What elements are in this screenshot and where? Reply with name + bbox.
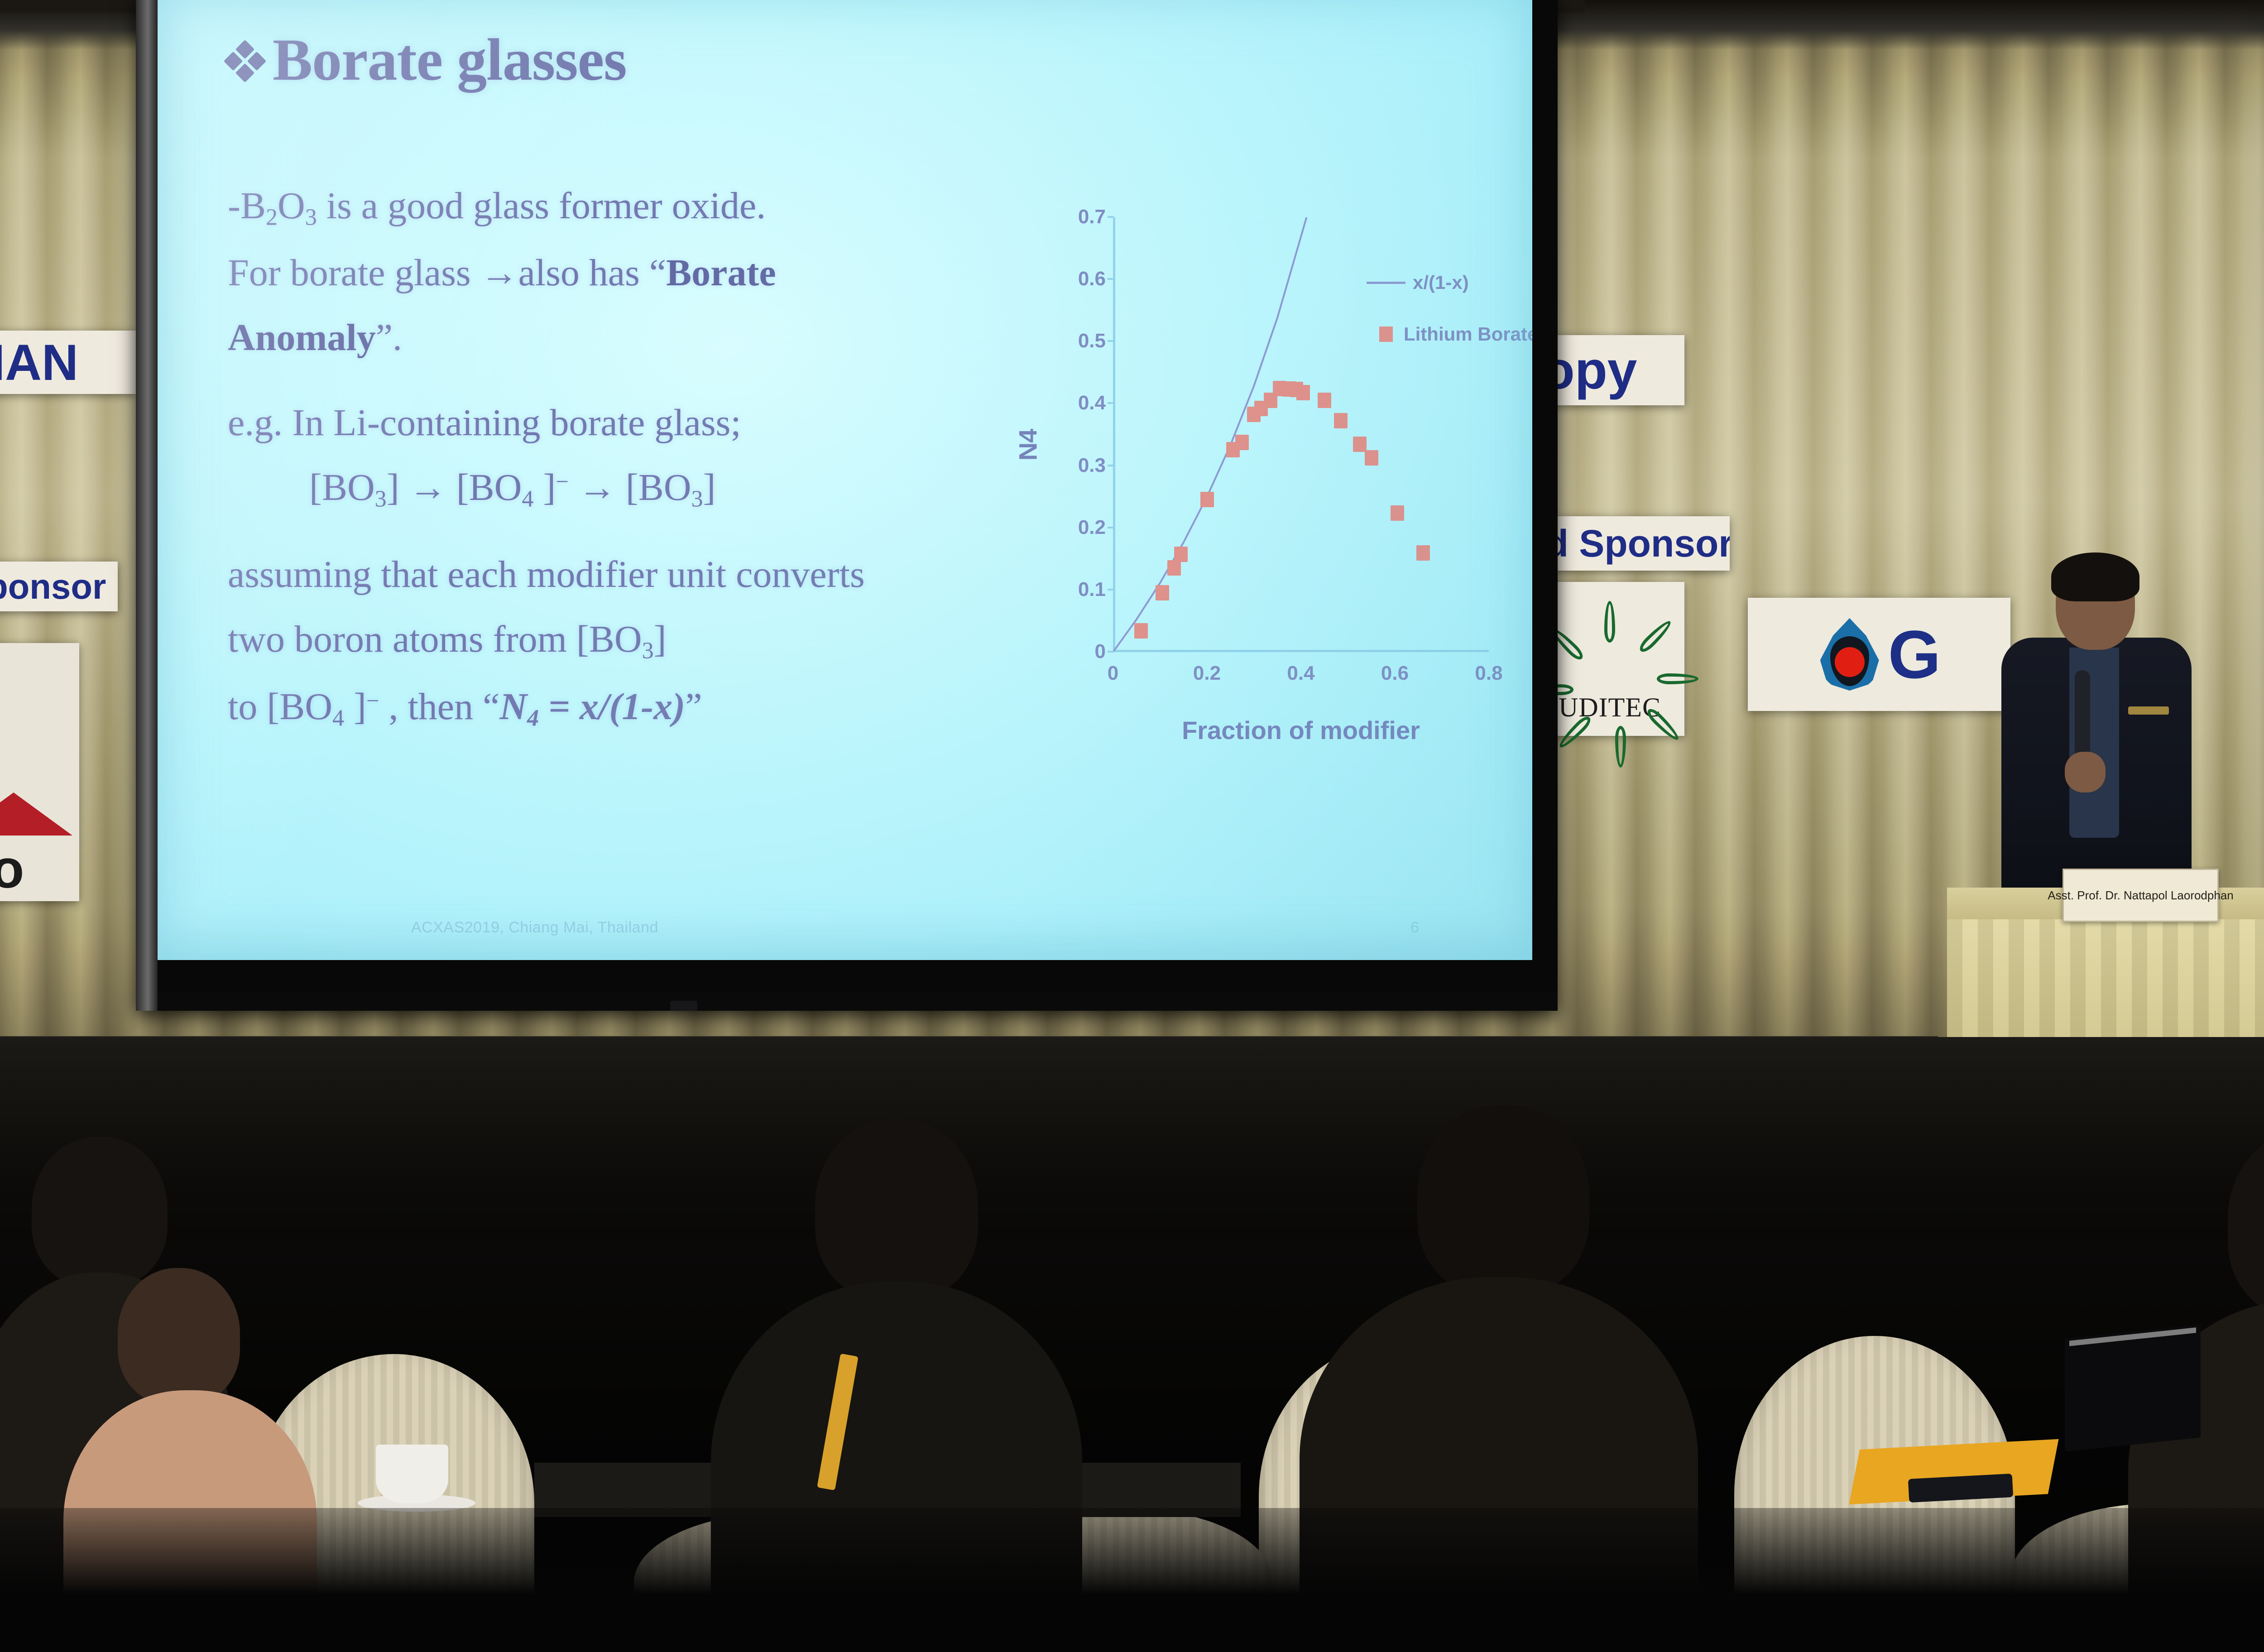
conference-room-scene: IAN ponsor to copy old Sponsor UDITEC G bbox=[0, 0, 2264, 1652]
name-placard-text: Asst. Prof. Dr. Nattapol Laorodphan bbox=[2048, 888, 2233, 903]
presenter-name-pin bbox=[2128, 706, 2169, 715]
chart-data-point bbox=[1167, 560, 1181, 576]
projection-screen-roller bbox=[670, 1001, 697, 1011]
slide-title: Borate glasses bbox=[225, 25, 627, 94]
chart-data-point bbox=[1318, 393, 1331, 408]
chart-y-tick: 0.5 bbox=[1078, 330, 1113, 352]
chart-y-tick: 0.1 bbox=[1078, 578, 1113, 601]
slide-paragraph-1: -B2O3 is a good glass former oxide. For … bbox=[228, 181, 893, 363]
chart-y-tick: 0.4 bbox=[1078, 392, 1113, 414]
b2o3-sub-3: 3 bbox=[305, 205, 317, 231]
presenter-hair bbox=[2051, 552, 2139, 601]
banner-left-top-text: IAN bbox=[0, 333, 78, 392]
chart-x-tick: 0 bbox=[1108, 652, 1118, 685]
slide-page-number: 6 bbox=[1410, 919, 1419, 936]
legend-label-data: Lithium Borate glass bbox=[1404, 323, 1532, 345]
presentation-slide: Borate glasses -B2O3 is a good glass for… bbox=[158, 0, 1532, 960]
laptop-icon bbox=[2065, 1324, 2201, 1452]
chart-legend-item-theory: x/(1-x) bbox=[1367, 272, 1532, 293]
chart-data-point bbox=[1156, 585, 1169, 600]
slide-line-li-containing: e.g. In Li-containing borate glass; bbox=[228, 398, 893, 447]
slide-paragraph-3: assuming that each modifier unit convert… bbox=[228, 550, 893, 734]
banner-left-sponsor-text: ponsor bbox=[0, 566, 106, 607]
chart-data-point bbox=[1174, 547, 1188, 562]
slide-line-borate-anomaly-2: Anomaly”. bbox=[228, 313, 893, 362]
stage-front bbox=[0, 1037, 2264, 1273]
legend-label-theory: x/(1-x) bbox=[1413, 272, 1469, 293]
chart-data-point bbox=[1365, 450, 1378, 466]
slide-paragraph-2: e.g. In Li-containing borate glass; [BO3… bbox=[228, 398, 893, 514]
chart-y-tick: 0.7 bbox=[1078, 206, 1113, 228]
slide-title-text: Borate glasses bbox=[273, 25, 627, 94]
sponsor-card-left: to bbox=[0, 643, 79, 901]
projection-screen[interactable]: Borate glasses -B2O3 is a good glass for… bbox=[158, 0, 1532, 960]
chart-y-tick: 0.3 bbox=[1078, 454, 1113, 477]
four-diamond-bullet-icon bbox=[225, 38, 264, 82]
chart-data-point bbox=[1235, 435, 1249, 450]
foreground-shadow bbox=[0, 1508, 2264, 1652]
sponsor-logo-uditec-text: UDITEC bbox=[1559, 692, 1661, 723]
green-flower-logo-icon bbox=[1562, 595, 1657, 690]
presenter-hand bbox=[2065, 752, 2106, 792]
legend-square-swatch bbox=[1379, 327, 1393, 342]
name-placard: Asst. Prof. Dr. Nattapol Laorodphan bbox=[2063, 869, 2219, 922]
legend-line-swatch bbox=[1367, 282, 1405, 284]
microphone-icon bbox=[2075, 670, 2090, 761]
ptt-flame-drop-icon bbox=[1820, 618, 1879, 691]
coffee-cup bbox=[376, 1445, 448, 1503]
b2o3-o: O bbox=[278, 185, 305, 227]
chart-data-point bbox=[1353, 437, 1367, 452]
sponsor-logo-gc: G bbox=[1748, 598, 2010, 711]
chart-plot-area: x/(1-x) Lithium Borate glass 00.10.20.30… bbox=[1113, 217, 1489, 652]
chart-data-point bbox=[1334, 413, 1348, 428]
chart-data-point bbox=[1134, 623, 1148, 639]
projection-screen-left-edge bbox=[136, 0, 158, 1011]
slide-body: -B2O3 is a good glass former oxide. For … bbox=[228, 181, 893, 749]
sponsor-card-left-text: to bbox=[0, 838, 24, 900]
chart-x-tick: 0.8 bbox=[1475, 652, 1502, 685]
slide-chart: N4 Fraction of modifier x/(1-x) bbox=[1045, 199, 1525, 765]
chart-y-tick: 0.2 bbox=[1078, 516, 1113, 539]
b2o3-suffix: is a good glass former oxide. bbox=[317, 185, 766, 227]
chart-x-axis-label: Fraction of modifier bbox=[1122, 716, 1480, 745]
banner-left-sponsor: ponsor bbox=[0, 562, 118, 611]
banner-left-top: IAN bbox=[0, 331, 136, 394]
slide-line-b2o3: -B2O3 is a good glass former oxide. bbox=[228, 181, 893, 233]
chart-y-tick: 0.6 bbox=[1078, 268, 1113, 290]
slide-line-borate-anomaly-1: For borate glass →also has “Borate bbox=[228, 248, 893, 298]
slide-footer: ACXAS2019, Chiang Mai, Thailand bbox=[411, 919, 658, 936]
chart-x-tick: 0.2 bbox=[1193, 652, 1221, 685]
b2o3-prefix: -B bbox=[228, 185, 266, 227]
slide-line-n4-formula: to [BO4 ]− , then “N4 = x/(1-x)” bbox=[228, 682, 893, 734]
slide-line-assuming: assuming that each modifier unit convert… bbox=[228, 550, 893, 599]
presenter bbox=[1992, 557, 2201, 919]
sponsor-logo-gc-text: G bbox=[1888, 615, 1938, 694]
chart-data-point bbox=[1296, 385, 1310, 400]
chart-data-point bbox=[1416, 545, 1430, 561]
chart-y-axis-label: N4 bbox=[1013, 429, 1043, 461]
chart-legend: x/(1-x) Lithium Borate glass bbox=[1367, 272, 1532, 375]
slide-line-two-boron: two boron atoms from [BO3] bbox=[228, 615, 893, 666]
chart-legend-item-data: Lithium Borate glass bbox=[1367, 323, 1532, 345]
b2o3-sub-2: 2 bbox=[266, 205, 278, 231]
chart-data-point bbox=[1200, 492, 1214, 507]
chart-data-point bbox=[1391, 505, 1404, 521]
slide-equation-bo3-bo4: [BO3] → [BO4 ]− → [BO3] bbox=[228, 463, 893, 514]
chart-x-tick: 0.4 bbox=[1287, 652, 1314, 685]
chart-x-tick: 0.6 bbox=[1381, 652, 1409, 685]
red-triangle-logo-icon bbox=[0, 792, 72, 836]
